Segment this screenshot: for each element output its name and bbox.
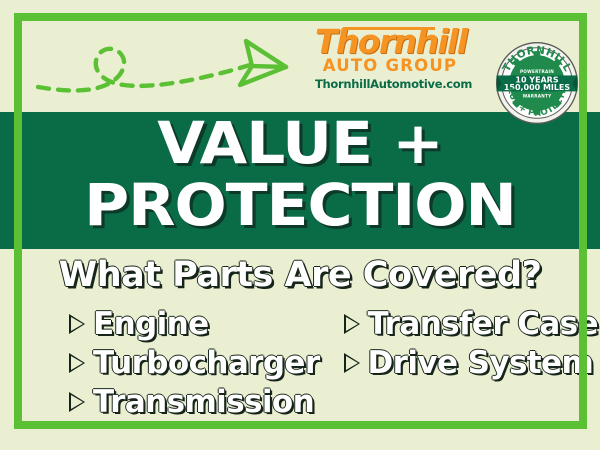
triangle-bullet-icon (344, 353, 360, 373)
frame-border-right (579, 13, 587, 429)
list-item: Engine (69, 304, 320, 343)
header: Thornhill AUTO GROUP ThornhillAutomotive… (22, 21, 579, 112)
subhead-question: What Parts Are Covered? (0, 253, 600, 297)
triangle-bullet-icon (69, 353, 85, 373)
thornhill-logo[interactable]: Thornhill AUTO GROUP ThornhillAutomotive… (315, 25, 465, 91)
seal-warranty-text: WARRANTY (523, 93, 552, 98)
dashed-loop-arrow-icon (24, 25, 294, 105)
triangle-bullet-icon (344, 314, 360, 334)
part-label: Drive System (368, 346, 594, 380)
list-item: Transmission (69, 382, 320, 421)
list-item: Transfer Case (344, 304, 598, 343)
logo-website[interactable]: ThornhillAutomotive.com (315, 77, 465, 91)
frame-border-bottom (14, 421, 587, 429)
parts-column-right: Transfer Case Drive System (320, 304, 598, 422)
headline-line-1: VALUE + (0, 113, 600, 173)
list-item: Turbocharger (69, 343, 320, 382)
headline-line-2: PROTECTION (0, 173, 600, 237)
headline: VALUE + PROTECTION (0, 113, 600, 237)
covered-parts-list: Engine Turbocharger Transmission Transfe… (26, 304, 578, 422)
list-item: Drive System (344, 343, 598, 382)
triangle-bullet-icon (69, 392, 85, 412)
part-label: Transmission (93, 385, 314, 419)
part-label: Engine (93, 307, 209, 341)
part-label: Turbocharger (93, 346, 320, 380)
frame-border-top (14, 13, 587, 21)
triangle-bullet-icon (69, 314, 85, 334)
advertisement-banner: Thornhill AUTO GROUP ThornhillAutomotive… (0, 0, 600, 450)
parts-column-left: Engine Turbocharger Transmission (26, 304, 320, 422)
frame-border-left (14, 13, 22, 429)
logo-underline-bar (343, 27, 435, 30)
part-label: Transfer Case (368, 307, 598, 341)
seal-powertrain-text: POWERTRAIN (520, 69, 554, 74)
